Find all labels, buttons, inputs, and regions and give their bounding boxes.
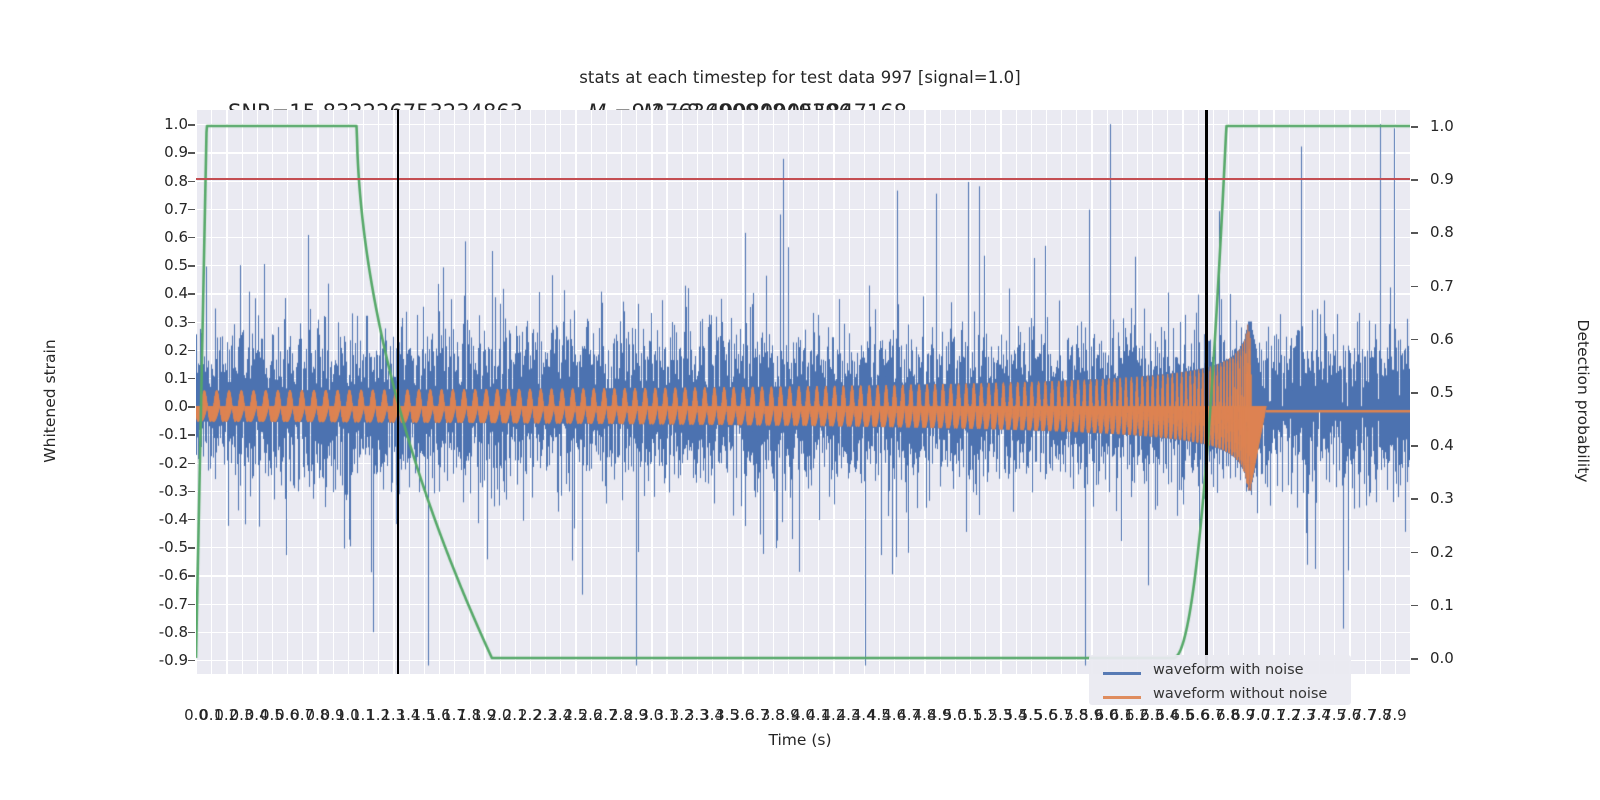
y-axis-left-tick-label: 0.8 — [164, 172, 188, 190]
y-axis-left-tick-label: 0.7 — [164, 200, 188, 218]
y-axis-left-tick-label: -0.1 — [159, 425, 188, 443]
y-axis-right-tick-label: 0.5 — [1430, 383, 1454, 401]
y-axis-left-tick-label: 1.0 — [164, 115, 188, 133]
y-axis-right-tick-mark — [1411, 179, 1418, 181]
threshold-line — [196, 178, 1410, 180]
y-axis-left-tick-mark — [188, 378, 195, 380]
y-axis-right-tick-label: 0.7 — [1430, 277, 1454, 295]
y-axis-left-label: Whitened strain — [0, 0, 40, 800]
y-axis-left-tick-mark — [188, 406, 195, 408]
page-title: stats at each timestep for test data 997… — [0, 68, 1600, 87]
y-axis-right-tick-mark — [1411, 339, 1418, 341]
y-axis-right-tick-label: 0.3 — [1430, 489, 1454, 507]
legend-label: waveform with noise — [1153, 662, 1304, 678]
y-axis-right-tick-mark — [1411, 126, 1418, 128]
y-axis-left-tick-mark — [188, 181, 195, 183]
y-axis-right-tick-label: 0.2 — [1430, 543, 1454, 561]
y-axis-left-tick-mark — [188, 434, 195, 436]
figure: stats at each timestep for test data 997… — [0, 0, 1600, 800]
y-axis-left-tick-label: 0.2 — [164, 341, 188, 359]
y-axis-right-tick-label: 0.9 — [1430, 170, 1454, 188]
y-axis-left-tick-mark — [188, 491, 195, 493]
y-axis-right-tick-label: 0.6 — [1430, 330, 1454, 348]
y-axis-left-tick-mark — [188, 209, 195, 211]
y-axis-left-tick-label: -0.7 — [159, 595, 188, 613]
legend-swatch — [1103, 696, 1141, 699]
x-axis-label: Time (s) — [0, 731, 1600, 749]
y-axis-left-tick-label: 0.5 — [164, 256, 188, 274]
y-axis-left-tick-mark — [188, 519, 195, 521]
y-axis-left-tick-label: 0.0 — [164, 397, 188, 415]
event-marker-line — [1205, 110, 1207, 674]
y-axis-right-tick-mark — [1411, 552, 1418, 554]
y-axis-left-tick-mark — [188, 265, 195, 267]
legend: waveform with noisewaveform without nois… — [1089, 655, 1351, 705]
y-axis-left-tick-mark — [188, 604, 195, 606]
y-axis-left-tick-mark — [188, 660, 195, 662]
y-axis-left-tick-mark — [188, 152, 195, 154]
y-axis-left-label-text: Whitened strain — [41, 301, 59, 501]
y-axis-left-tick-label: -0.9 — [159, 651, 188, 669]
y-axis-right-tick-label: 0.8 — [1430, 223, 1454, 241]
event-marker-line — [397, 110, 399, 674]
y-axis-right-tick-mark — [1411, 445, 1418, 447]
y-axis-right-tick-label: 0.4 — [1430, 436, 1454, 454]
y-axis-left-tick-label: 0.6 — [164, 228, 188, 246]
x-axis-tick-label: 7.9 — [1383, 706, 1407, 724]
y-axis-left-tick-mark — [188, 124, 195, 126]
y-axis-left-tick-label: -0.3 — [159, 482, 188, 500]
y-axis-left-tick-mark — [188, 293, 195, 295]
y-axis-left-tick-mark — [188, 350, 195, 352]
y-axis-left-tick-mark — [188, 322, 195, 324]
y-axis-left-tick-label: -0.4 — [159, 510, 188, 528]
y-axis-left-tick-mark — [188, 237, 195, 239]
y-axis-right-tick-label: 1.0 — [1430, 117, 1454, 135]
y-axis-left-tick-label: -0.2 — [159, 454, 188, 472]
y-axis-right-tick-mark — [1411, 498, 1418, 500]
y-axis-left-tick-mark — [188, 632, 195, 634]
y-axis-left-tick-label: -0.5 — [159, 538, 188, 556]
y-axis-left-tick-mark — [188, 547, 195, 549]
y-axis-right-label: Detection probability — [1560, 0, 1600, 800]
plot-area — [196, 110, 1410, 674]
y-axis-right-label-text: Detection probability — [1574, 301, 1592, 501]
y-axis-left-tick-label: -0.8 — [159, 623, 188, 641]
y-axis-right-tick-label: 0.0 — [1430, 649, 1454, 667]
marker-layer — [196, 110, 1410, 674]
y-axis-left-tick-label: 0.1 — [164, 369, 188, 387]
y-axis-right-tick-mark — [1411, 605, 1418, 607]
legend-label: waveform without noise — [1153, 686, 1327, 702]
legend-swatch — [1103, 672, 1141, 675]
y-axis-right-tick-mark — [1411, 658, 1418, 660]
y-axis-right-tick-mark — [1411, 286, 1418, 288]
y-axis-right-tick-label: 0.1 — [1430, 596, 1454, 614]
y-axis-left-tick-label: 0.9 — [164, 143, 188, 161]
y-axis-left-tick-label: 0.3 — [164, 313, 188, 331]
y-axis-left-tick-mark — [188, 463, 195, 465]
y-axis-right-tick-mark — [1411, 232, 1418, 234]
y-axis-left-tick-label: 0.4 — [164, 284, 188, 302]
y-axis-left-tick-label: -0.6 — [159, 566, 188, 584]
y-axis-right-tick-mark — [1411, 392, 1418, 394]
y-axis-left-tick-mark — [188, 575, 195, 577]
